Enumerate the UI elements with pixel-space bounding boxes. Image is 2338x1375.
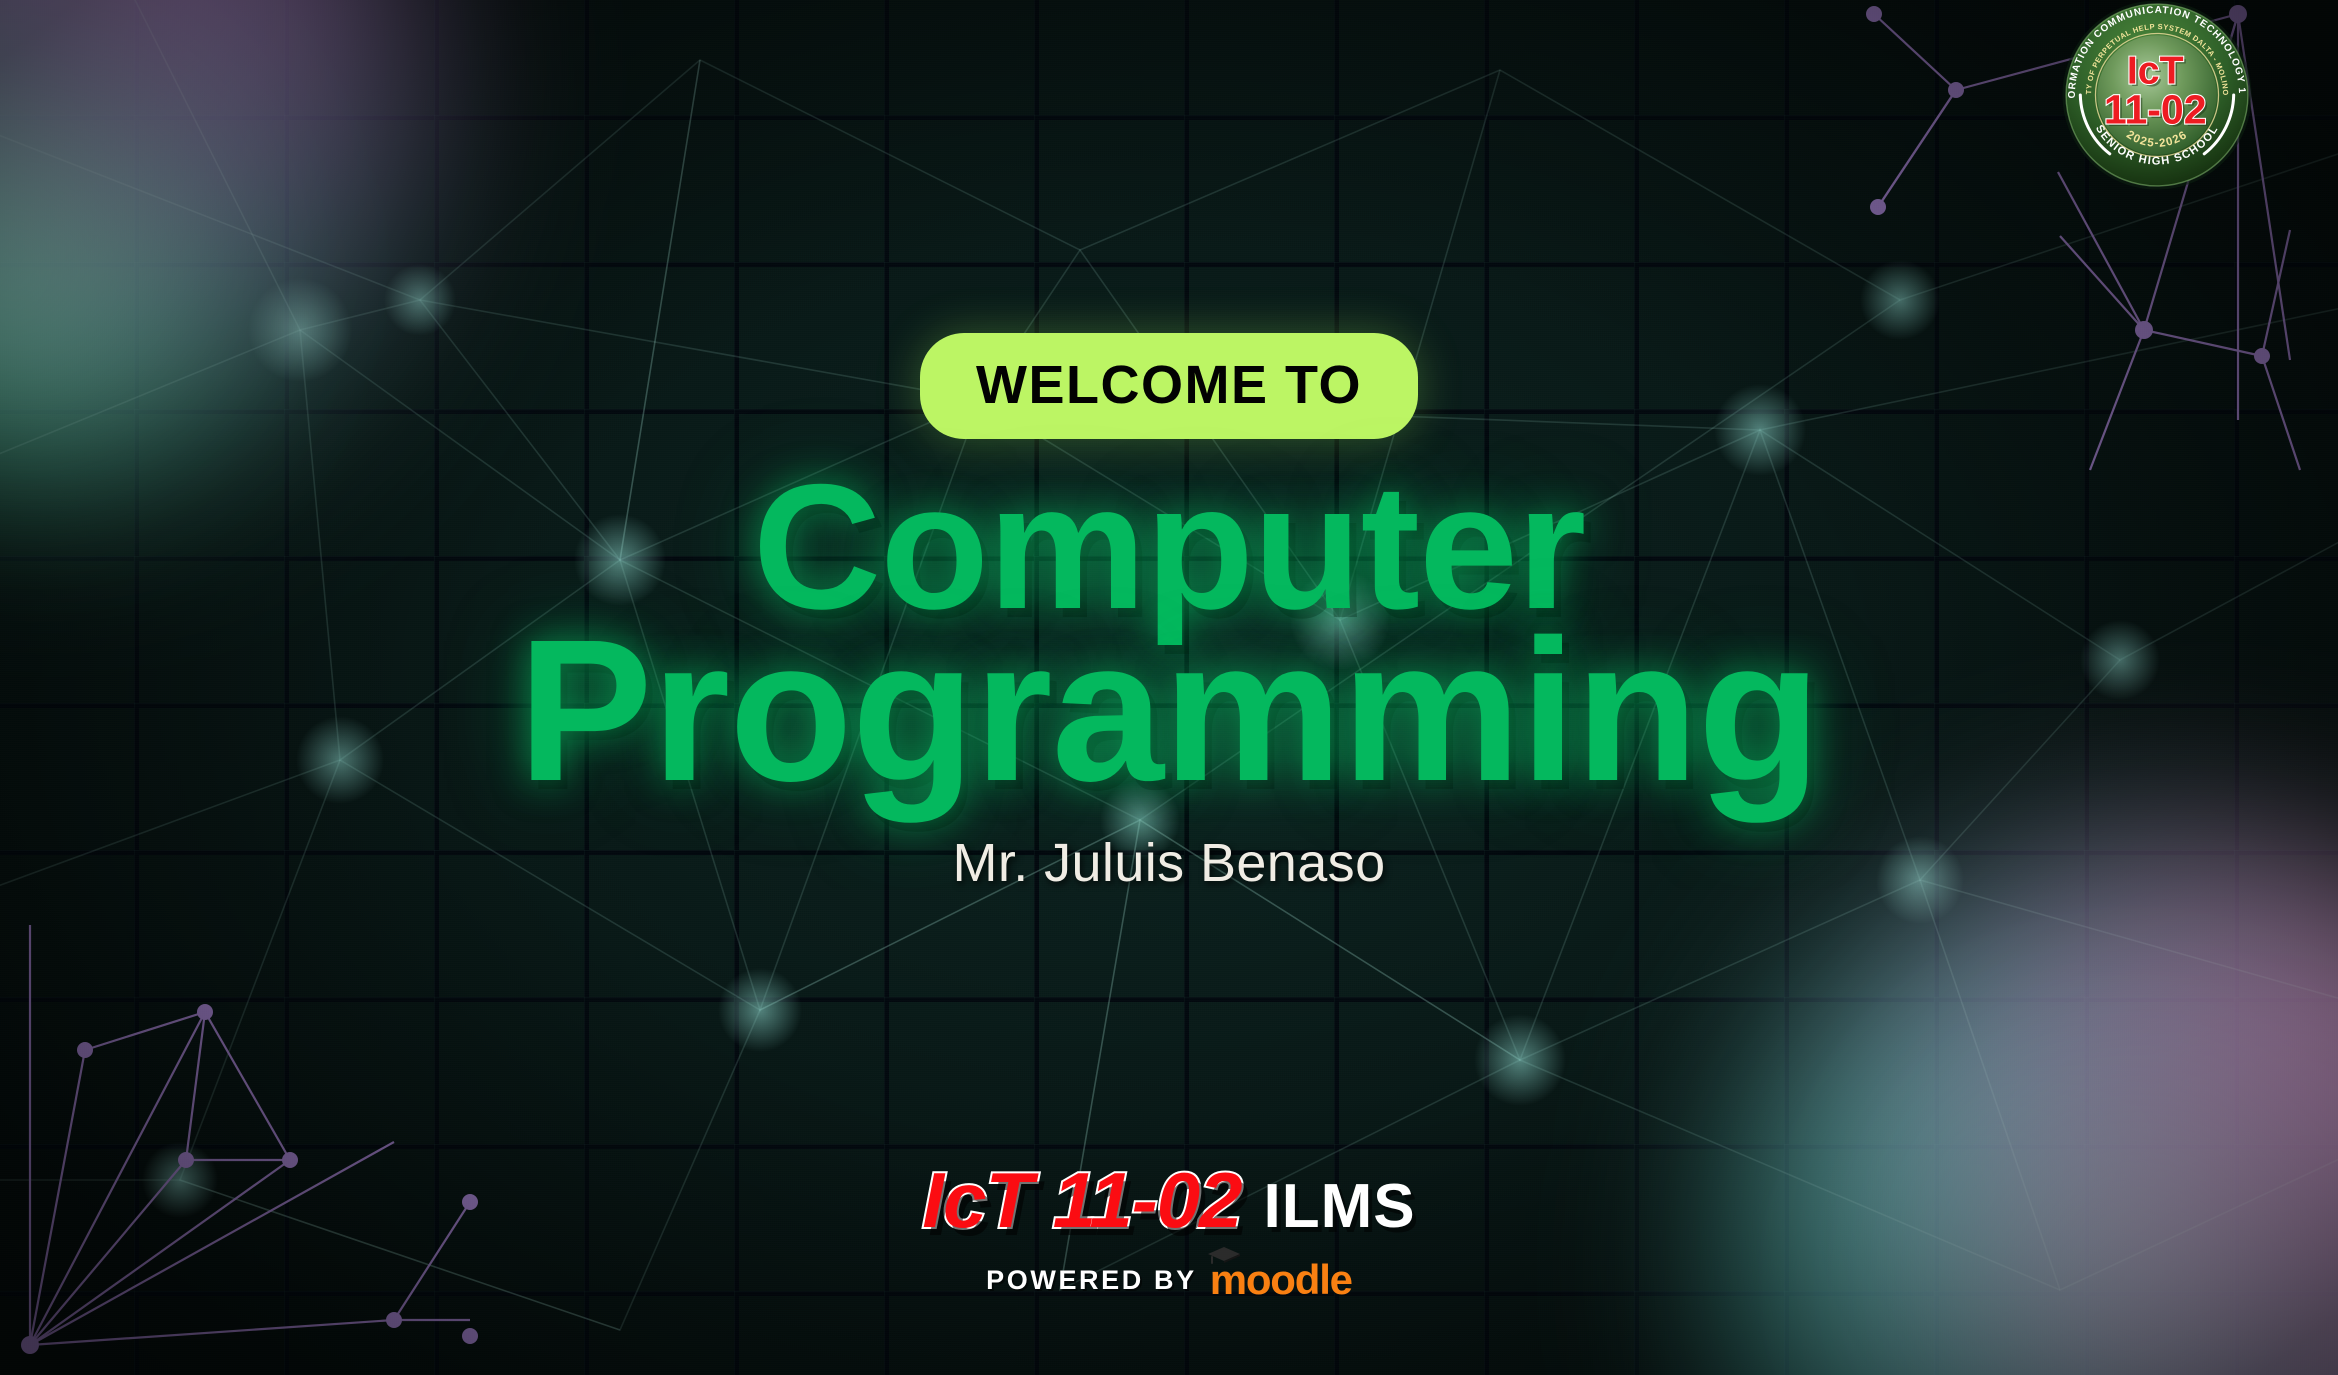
presenter-name: Mr. Juluis Benaso [953, 832, 1386, 894]
moodle-logo: moodle [1210, 1259, 1352, 1301]
welcome-badge: WELCOME TO [920, 333, 1418, 439]
brand-system-label: ILMS [1263, 1176, 1415, 1238]
graduation-cap-icon [1207, 1246, 1241, 1266]
powered-by-label: POWERED BY [986, 1265, 1197, 1296]
course-title: Computer Programming [518, 463, 1820, 806]
powered-by-row: POWERED BY moodle [986, 1259, 1352, 1301]
course-title-line-2: Programming [518, 616, 1820, 806]
ict-seal-badge: INFORMATION COMMUNICATION TECHNOLOGY 11-… [2050, 0, 2264, 202]
welcome-slide: WELCOME TO Computer Programming Mr. Julu… [0, 0, 2338, 1375]
brand-course-label: IcT 11-02 [922, 1161, 1241, 1239]
footer-branding: IcT 11-02 ILMS POWERED BY moodle [0, 1161, 2338, 1301]
seal-center-line-2: 11-02 [2104, 87, 2207, 133]
brand-row: IcT 11-02 ILMS [922, 1161, 1415, 1239]
